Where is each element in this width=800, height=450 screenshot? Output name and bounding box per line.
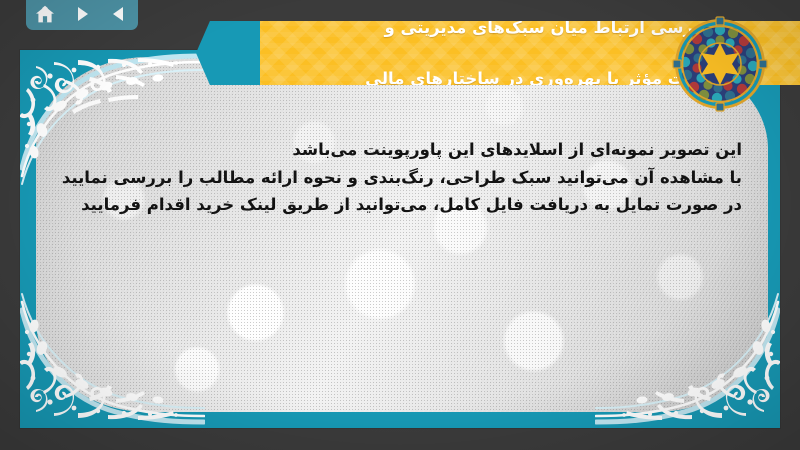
slide-viewer: بررسی ارتباط میان سبک‌های مدیریتی وتعامل… [0,0,800,450]
panel-diagonal-sheen [36,57,768,412]
body-line-1: این تصویر نمونه‌ای از اسلایدهای این پاور… [40,136,742,164]
slide-navigation-bar [26,0,138,30]
slide-body-text: این تصویر نمونه‌ای از اسلایدهای این پاور… [40,136,760,219]
previous-slide-button[interactable] [106,3,132,25]
persian-medallion-ornament [672,16,768,112]
home-button[interactable] [32,3,58,25]
banner-left-accent-strip [251,21,260,85]
slide-frame [20,50,780,428]
body-line-3: در صورت تمایل به دریافت فایل کامل، می‌تو… [40,191,742,219]
panel-halftone-texture [36,57,768,412]
home-icon [35,5,55,24]
triangle-left-icon [110,5,128,23]
body-line-2: با مشاهده آن می‌توانید سبک طراحی، رنگ‌بن… [40,164,742,192]
slide-content-panel [36,57,768,412]
title-line-1: بررسی ارتباط میان سبک‌های مدیریتی و [385,21,710,40]
next-slide-button[interactable] [69,3,95,25]
triangle-right-icon [73,5,91,23]
